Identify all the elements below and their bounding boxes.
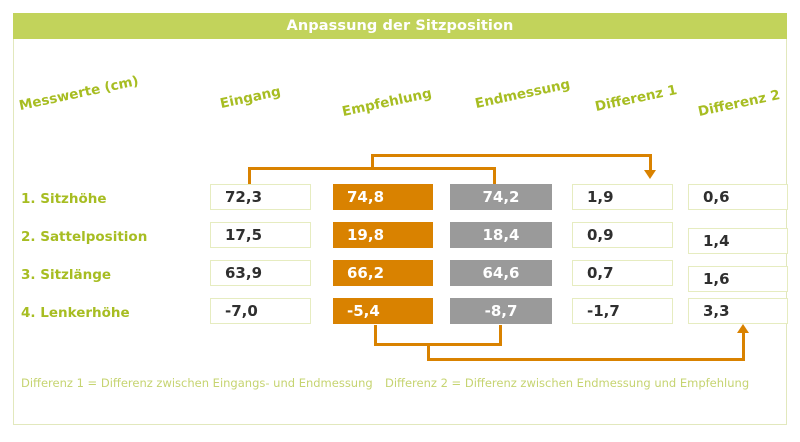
cell-differenz2-2: 1,4 bbox=[688, 228, 788, 254]
cell-differenz1-1: 1,9 bbox=[572, 184, 673, 210]
cell-differenz1-3: 0,7 bbox=[572, 260, 673, 286]
cell-differenz1-4: -1,7 bbox=[572, 298, 673, 324]
cell-empfehlung-1: 74,8 bbox=[333, 184, 433, 210]
footnote-differenz-2: Differenz 2 = Differenz zwischen Endmess… bbox=[385, 376, 749, 390]
cell-eingang-2: 17,5 bbox=[210, 222, 311, 248]
cell-empfehlung-2: 19,8 bbox=[333, 222, 433, 248]
cell-eingang-3: 63,9 bbox=[210, 260, 311, 286]
infographic-page: Anpassung der Sitzposition Messwerte (cm… bbox=[0, 0, 800, 442]
connector-bottom-arrow-icon bbox=[737, 324, 749, 333]
cell-eingang-4: -7,0 bbox=[210, 298, 311, 324]
footnote-differenz-1: Differenz 1 = Differenz zwischen Eingang… bbox=[21, 376, 373, 390]
cell-eingang-1: 72,3 bbox=[210, 184, 311, 210]
cell-endmessung-1: 74,2 bbox=[450, 184, 552, 210]
connector-bottom-bar-upper bbox=[374, 343, 502, 346]
row-label-3: 3. Sitzlänge bbox=[21, 267, 111, 283]
cell-differenz2-3: 1,6 bbox=[688, 266, 788, 292]
connector-top-bar-upper bbox=[371, 154, 652, 157]
connector-top-arrow-icon bbox=[644, 170, 656, 179]
row-label-4: 4. Lenkerhöhe bbox=[21, 305, 130, 321]
connector-bottom-rise-differenz2 bbox=[742, 332, 745, 360]
cell-endmessung-2: 18,4 bbox=[450, 222, 552, 248]
connector-bottom-bar-lower bbox=[427, 358, 745, 361]
cell-empfehlung-4: -5,4 bbox=[333, 298, 433, 324]
cell-differenz2-1: 0,6 bbox=[688, 184, 788, 210]
row-label-2: 2. Sattelposition bbox=[21, 229, 147, 245]
connector-bottom-stub-endmessung bbox=[499, 325, 502, 346]
title-bar: Anpassung der Sitzposition bbox=[13, 13, 787, 39]
connector-top-drop-differenz1 bbox=[649, 154, 652, 171]
page-title: Anpassung der Sitzposition bbox=[287, 18, 514, 34]
cell-endmessung-4: -8,7 bbox=[450, 298, 552, 324]
row-label-1: 1. Sitzhöhe bbox=[21, 191, 107, 207]
cell-differenz2-4: 3,3 bbox=[688, 298, 788, 324]
cell-differenz1-2: 0,9 bbox=[572, 222, 673, 248]
cell-empfehlung-3: 66,2 bbox=[333, 260, 433, 286]
cell-endmessung-3: 64,6 bbox=[450, 260, 552, 286]
